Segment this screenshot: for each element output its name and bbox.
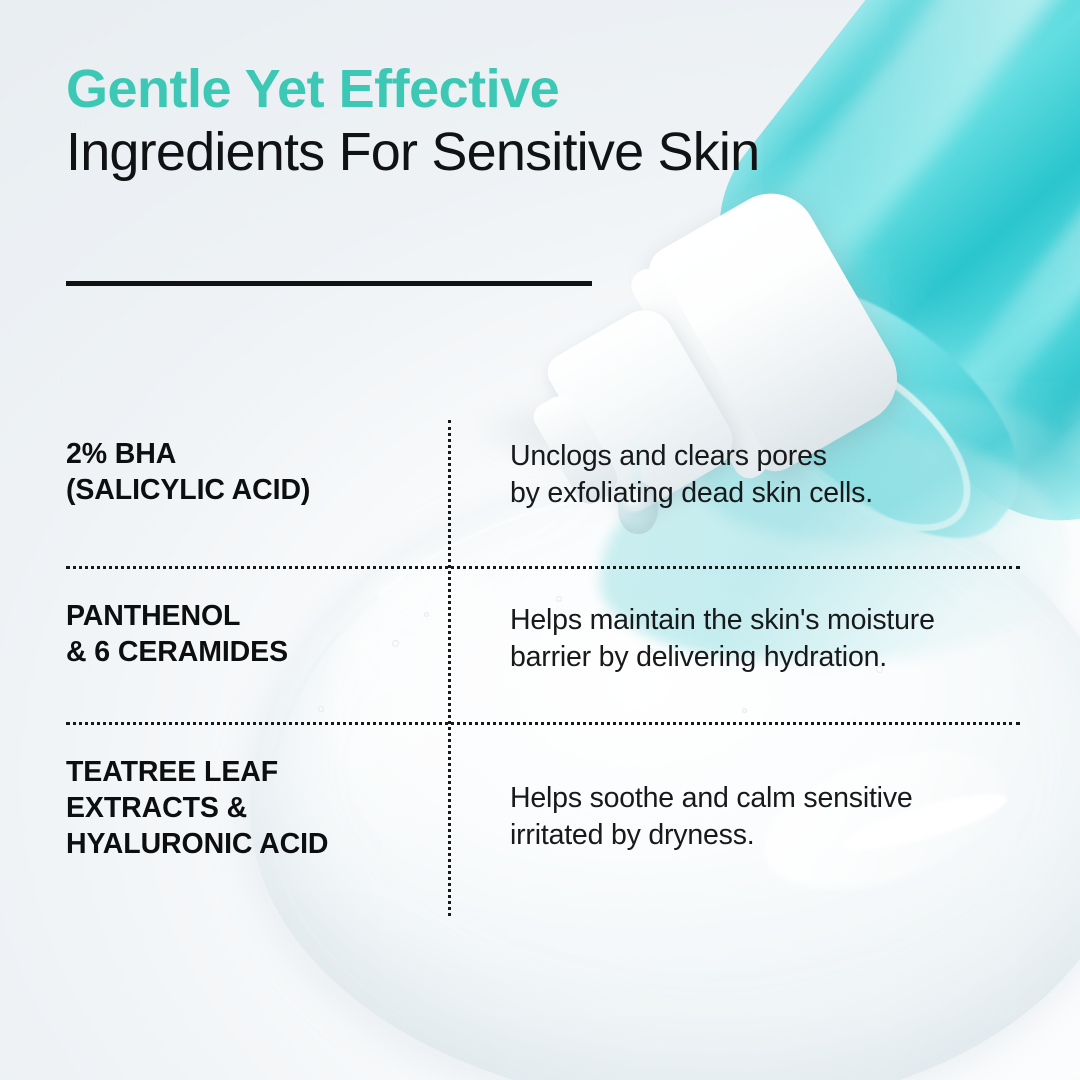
ingredient-description: Helps soothe and calm sensitive irritate… xyxy=(448,754,1020,863)
ingredient-name: TEATREE LEAF EXTRACTS & HYALURONIC ACID xyxy=(66,754,448,863)
table-row: TEATREE LEAF EXTRACTS & HYALURONIC ACID … xyxy=(66,754,1020,863)
headline-main-lines: Ingredients For Sensitive Skin xyxy=(66,121,766,184)
ingredient-description: Unclogs and clears pores by exfoliating … xyxy=(448,436,1020,512)
ingredient-name: PANTHENOL & 6 CERAMIDES xyxy=(66,598,448,676)
ingredient-description: Helps maintain the skin's moisture barri… xyxy=(448,598,1020,676)
content-layer: Gentle Yet Effective Ingredients For Sen… xyxy=(0,0,1080,1080)
headline-underline xyxy=(66,281,592,286)
ingredients-table: 2% BHA (SALICYLIC ACID) Unclogs and clea… xyxy=(66,418,1020,918)
headline-accent-line: Gentle Yet Effective xyxy=(66,62,766,117)
row-divider-1 xyxy=(66,566,1020,569)
table-row: PANTHENOL & 6 CERAMIDES Helps maintain t… xyxy=(66,598,1020,676)
ingredient-name: 2% BHA (SALICYLIC ACID) xyxy=(66,436,448,512)
row-divider-2 xyxy=(66,722,1020,725)
infographic-canvas: Gentle Yet Effective Ingredients For Sen… xyxy=(0,0,1080,1080)
page-title: Gentle Yet Effective Ingredients For Sen… xyxy=(66,62,766,184)
table-row: 2% BHA (SALICYLIC ACID) Unclogs and clea… xyxy=(66,436,1020,512)
